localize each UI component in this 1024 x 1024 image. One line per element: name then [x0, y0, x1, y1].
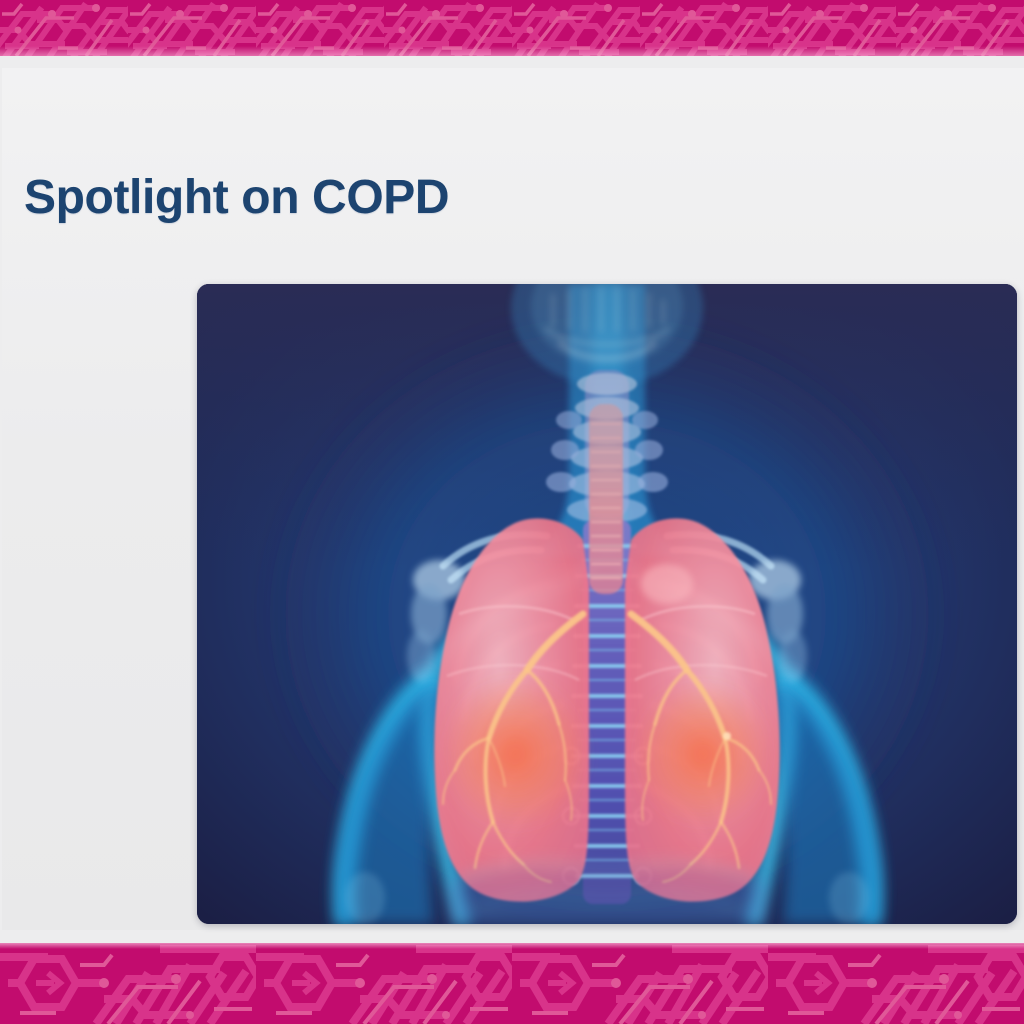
- lung-anatomy-graphic: [197, 284, 1017, 924]
- circuit-pattern-top-graphic: [0, 0, 1024, 56]
- slide-screenshot: Spotlight on COPD: [0, 0, 1024, 1024]
- medical-illustration: [197, 284, 1017, 924]
- slide-body: Spotlight on COPD: [0, 56, 1024, 943]
- circuit-pattern-band-top: [0, 0, 1024, 56]
- circuit-pattern-band-bottom: [0, 943, 1024, 1024]
- circuit-pattern-bottom-graphic: [0, 943, 1024, 1024]
- page-title: Spotlight on COPD: [24, 174, 449, 222]
